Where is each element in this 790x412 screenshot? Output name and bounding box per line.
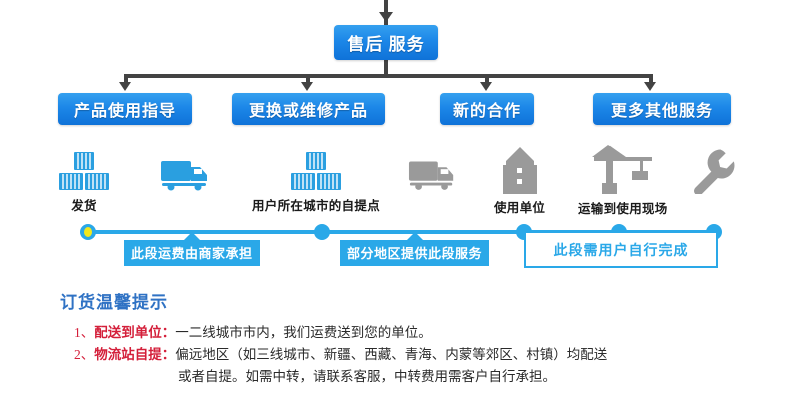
logistics-step-label: 发货 <box>71 195 97 214</box>
note-item: 2、 物流站自提： 偏远地区（如三线城市、新疆、西藏、青海、内蒙等郊区、村镇）均… <box>74 344 760 366</box>
timeline-tag-merchant-pays: 此段运费由商家承担 <box>124 240 260 266</box>
note-number: 2、 <box>74 344 94 366</box>
note-text: 偏远地区（如三线城市、新疆、西藏、青海、内蒙等郊区、村镇）均配送 <box>175 344 760 366</box>
timeline-tag-partial-areas: 部分地区提供此段服务 <box>340 240 489 266</box>
timeline-dot-1 <box>314 224 330 240</box>
logistics-step-site-delivery: 运输到使用现场 <box>578 143 668 217</box>
logistics-step-label: 用户所在城市的自提点 <box>252 195 380 214</box>
building-icon <box>498 146 542 194</box>
containers-icon <box>58 150 110 192</box>
containers-icon <box>290 150 342 192</box>
logistics-step-transit-1 <box>160 156 212 195</box>
timeline-tag-text: 此段需用户自行完成 <box>554 240 689 260</box>
timeline-tag-user-completes: 此段需用户自行完成 <box>524 233 718 268</box>
after-sales-service-infographic: 售后 服务 产品使用指导 更换或维修产品 新的合作 更多其他服务 发货 <box>0 0 790 412</box>
flow-node-root[interactable]: 售后 服务 <box>334 25 438 60</box>
arrow-down-icon-1 <box>301 82 313 91</box>
crane-icon <box>588 143 658 195</box>
timeline-tag-text: 部分地区提供此段服务 <box>347 246 482 261</box>
tag-pointer-icon <box>407 232 423 240</box>
logistics-step-transit-2 <box>408 156 458 195</box>
arrow-down-icon-3 <box>644 82 656 91</box>
flow-node-replace-repair[interactable]: 更换或维修产品 <box>232 93 385 125</box>
note-number: 1、 <box>74 322 94 344</box>
logistics-step-using-unit: 使用单位 <box>494 146 545 216</box>
logistics-step-shipping: 发货 <box>58 150 110 214</box>
notes-title: 订货温馨提示 <box>60 288 760 313</box>
arrow-down-icon-0 <box>119 82 131 91</box>
horizontal-connector-bar <box>124 74 651 78</box>
flow-node-product-guide[interactable]: 产品使用指导 <box>58 93 192 125</box>
truck-icon <box>160 156 212 192</box>
logistics-step-installation <box>692 148 736 197</box>
wrench-icon <box>692 148 736 194</box>
timeline-dot-start <box>80 224 96 240</box>
order-notice-section: 订货温馨提示 1、 配送到单位： 一二线城市市内，我们运费送到您的单位。 2、 … <box>60 288 760 388</box>
note-text: 一二线城市市内，我们运费送到您的单位。 <box>175 322 760 344</box>
arrow-down-icon-2 <box>480 82 492 91</box>
top-inbound-stem <box>384 0 388 26</box>
flow-node-more-services[interactable]: 更多其他服务 <box>593 93 731 125</box>
note-keyword: 物流站自提： <box>94 344 175 366</box>
logistics-step-label: 使用单位 <box>494 197 545 216</box>
flow-node-new-cooperation[interactable]: 新的合作 <box>440 93 534 125</box>
logistics-step-pickup-point: 用户所在城市的自提点 <box>252 150 380 214</box>
logistics-step-label: 运输到使用现场 <box>578 198 668 217</box>
note-item: 1、 配送到单位： 一二线城市市内，我们运费送到您的单位。 <box>74 322 760 344</box>
timeline-tag-text: 此段运费由商家承担 <box>131 246 253 261</box>
note-keyword: 配送到单位： <box>94 322 175 344</box>
note-text-continued: 或者自提。如需中转，请联系客服，中转费用需客户自行承担。 <box>74 366 760 388</box>
truck-icon <box>408 156 458 192</box>
tag-pointer-icon <box>184 232 200 240</box>
